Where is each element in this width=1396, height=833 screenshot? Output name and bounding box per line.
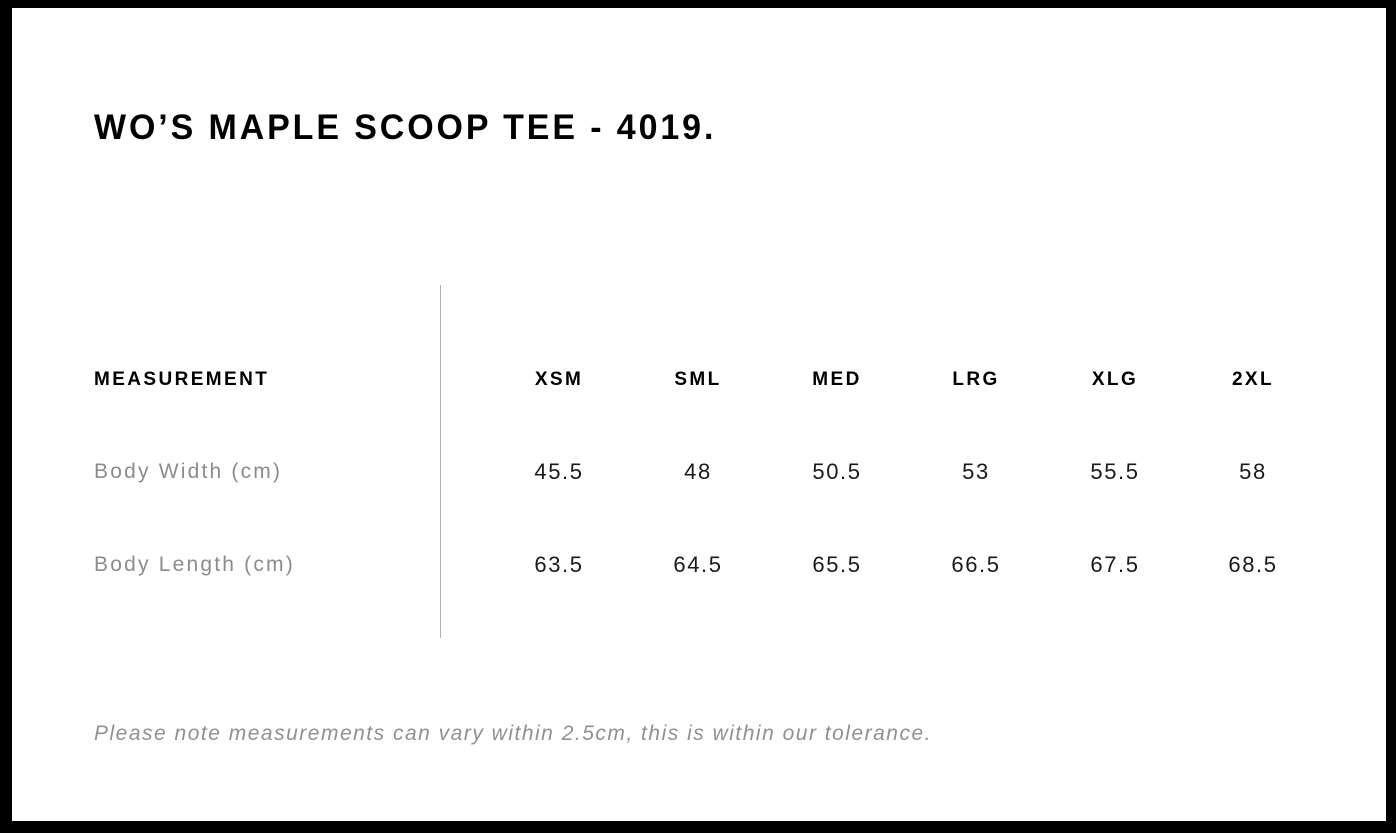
cell-body-width-2xl: 58 (1188, 452, 1318, 492)
tolerance-footnote: Please note measurements can vary within… (94, 722, 932, 746)
cell-body-length-med: 65.5 (772, 545, 902, 585)
column-header-size-med: MED (772, 360, 902, 400)
cell-body-length-sml: 64.5 (633, 545, 763, 585)
page-title: WO’S MAPLE SCOOP TEE - 4019. (94, 108, 716, 148)
column-header-size-lrg: LRG (911, 360, 1041, 400)
cell-body-length-xsm: 63.5 (494, 545, 624, 585)
column-header-size-sml: SML (633, 360, 763, 400)
column-header-measurement: MEASUREMENT (94, 360, 269, 400)
cell-body-width-sml: 48 (633, 452, 763, 492)
cell-body-length-2xl: 68.5 (1188, 545, 1318, 585)
column-header-size-xsm: XSM (494, 360, 624, 400)
cell-body-width-xlg: 55.5 (1050, 452, 1180, 492)
table-header-row: MEASUREMENT XSM SML MED LRG XLG 2XL (12, 360, 1386, 400)
size-chart-frame: WO’S MAPLE SCOOP TEE - 4019. MEASUREMENT… (0, 0, 1396, 833)
cell-body-width-lrg: 53 (911, 452, 1041, 492)
cell-body-width-xsm: 45.5 (494, 452, 624, 492)
row-label-body-length: Body Length (cm) (94, 545, 295, 585)
cell-body-width-med: 50.5 (772, 452, 902, 492)
cell-body-length-lrg: 66.5 (911, 545, 1041, 585)
size-chart-card: WO’S MAPLE SCOOP TEE - 4019. MEASUREMENT… (12, 8, 1386, 821)
cell-body-length-xlg: 67.5 (1050, 545, 1180, 585)
table-row: Body Length (cm) 63.5 64.5 65.5 66.5 67.… (12, 545, 1386, 585)
column-header-size-xlg: XLG (1050, 360, 1180, 400)
column-header-size-2xl: 2XL (1188, 360, 1318, 400)
table-row: Body Width (cm) 45.5 48 50.5 53 55.5 58 (12, 452, 1386, 492)
row-label-body-width: Body Width (cm) (94, 452, 282, 492)
